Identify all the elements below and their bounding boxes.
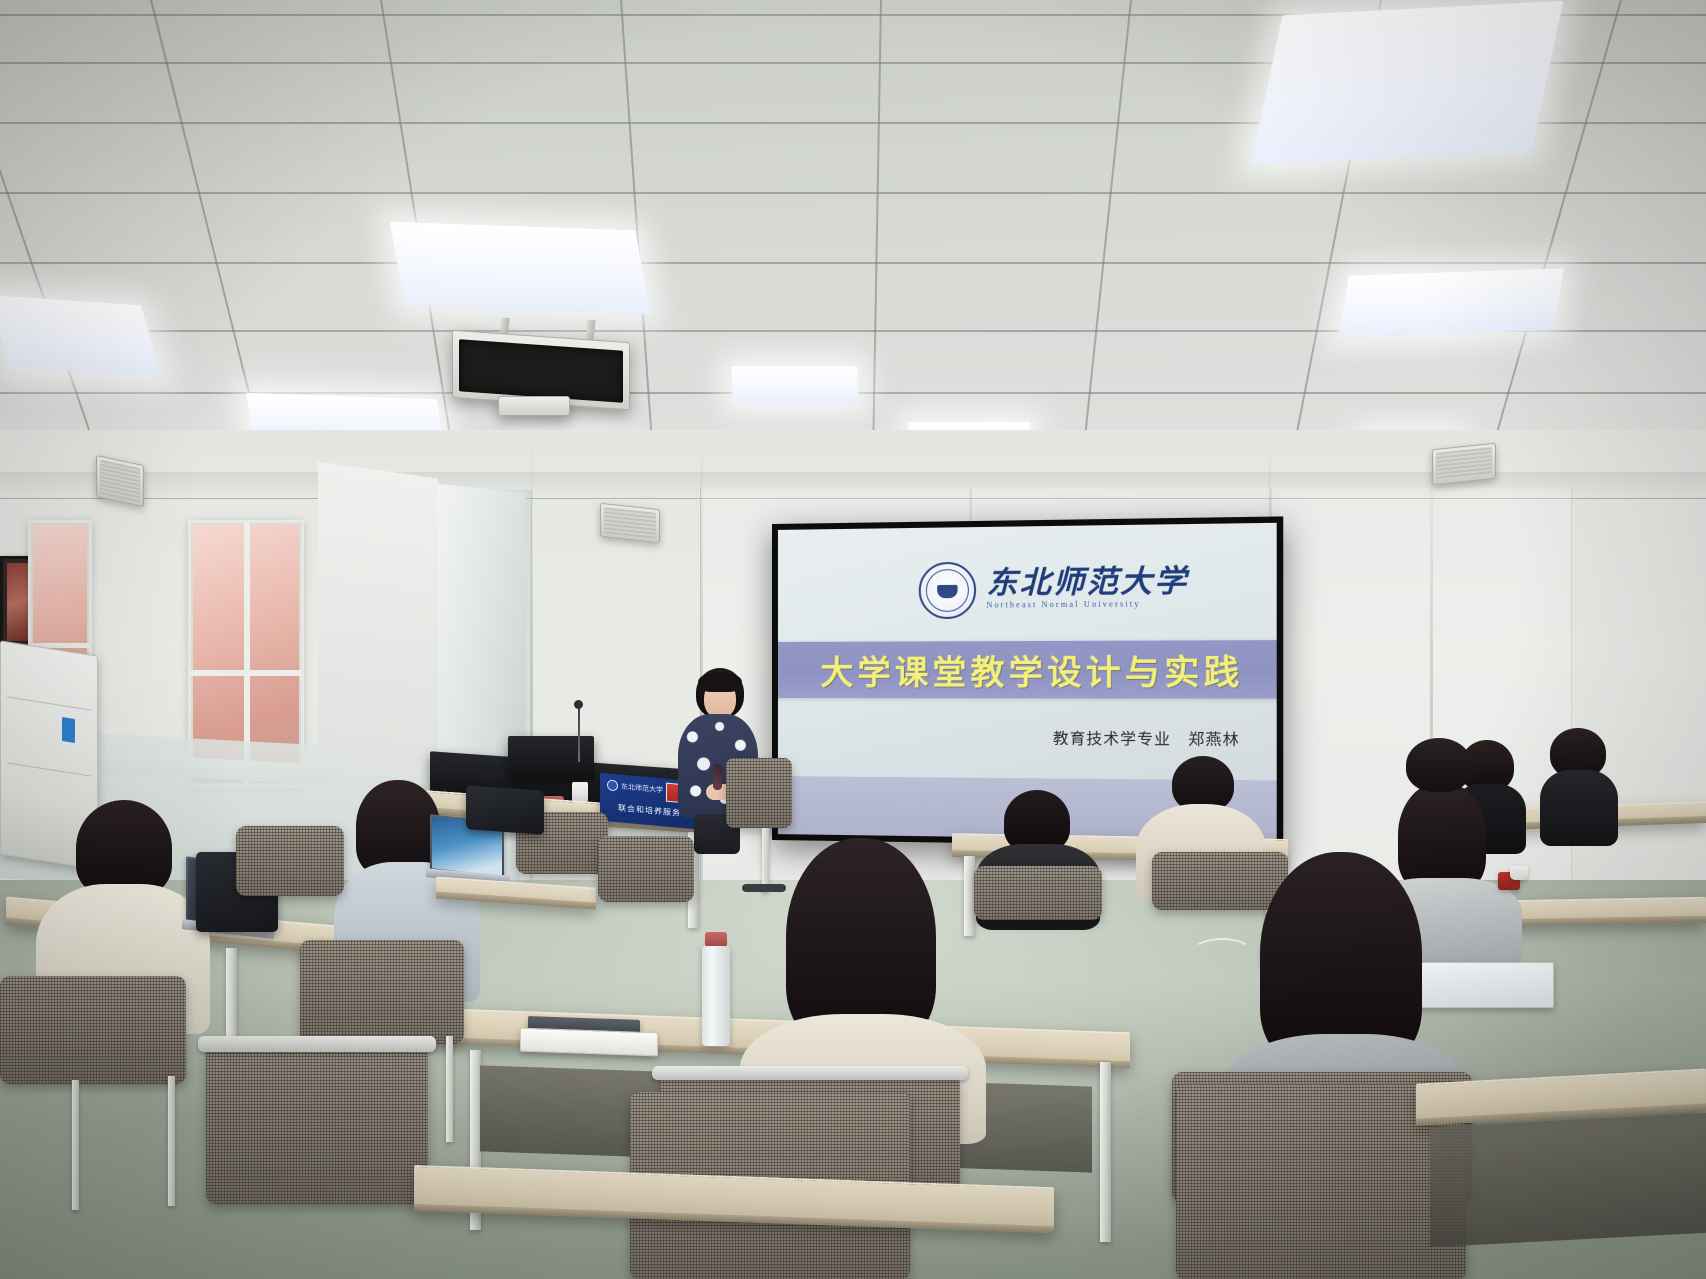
slide-title: 大学课堂教学设计与实践	[820, 644, 1243, 694]
chair-rail	[198, 1036, 436, 1052]
slide-university-name-en: Northeast Normal University	[986, 598, 1188, 612]
banner-seal-icon	[607, 779, 618, 791]
chair-rail	[652, 1066, 968, 1080]
microphone-stand	[578, 704, 580, 762]
water-bottle	[702, 944, 730, 1046]
student-right-back	[1392, 738, 1488, 838]
chair-left-empty-3	[598, 836, 694, 902]
wall-speaker-right	[1432, 443, 1496, 486]
bottle-cap	[705, 932, 727, 946]
banner-university-name: 东北师范大学	[621, 781, 663, 795]
chair-middle-left	[974, 866, 1102, 920]
chair-foreground-left	[206, 1044, 428, 1204]
cabinet-label	[62, 717, 75, 743]
desk-modesty-panel	[1430, 1113, 1706, 1247]
ceiling-light	[390, 222, 650, 315]
chair-left-empty-1	[236, 826, 344, 896]
chair-leg	[168, 1076, 175, 1206]
wall-speaker-left	[600, 503, 660, 543]
chair-leg	[72, 1080, 79, 1210]
classroom-photo: 东北师范大学 Northeast Normal University 大学课堂教…	[0, 0, 1706, 1279]
presenter-fringe	[698, 672, 742, 692]
chair-leg	[446, 1036, 453, 1142]
chair-left-2	[300, 940, 464, 1044]
slide-title-band: 大学课堂教学设计与实践	[778, 640, 1277, 699]
student-back-right-2	[1540, 728, 1618, 846]
podium-monitor	[508, 736, 594, 780]
wall-column	[318, 462, 438, 779]
notebook-light	[520, 1028, 658, 1057]
slide-university-name-cn: 东北师范大学	[986, 567, 1188, 600]
chair-left-1	[0, 976, 186, 1084]
handheld-microphone-icon	[713, 764, 722, 790]
slide-logo: 东北师范大学 Northeast Normal University	[919, 559, 1188, 619]
microphone-icon	[574, 700, 583, 709]
cup-right	[1510, 866, 1528, 880]
banner-logo: 东北师范大学	[607, 779, 663, 795]
ceiling-light	[1251, 1, 1564, 166]
ceiling-light	[0, 295, 162, 377]
ceiling-light	[731, 366, 858, 404]
desk-leg	[1100, 1062, 1111, 1242]
presenter-chair	[726, 758, 792, 828]
ceiling-light	[1338, 268, 1564, 337]
projector-lens-housing	[498, 396, 570, 416]
bag-right	[466, 785, 544, 834]
slide-subtitle: 教育技术学专业 郑燕林	[1053, 727, 1240, 750]
university-seal-icon	[919, 562, 976, 619]
